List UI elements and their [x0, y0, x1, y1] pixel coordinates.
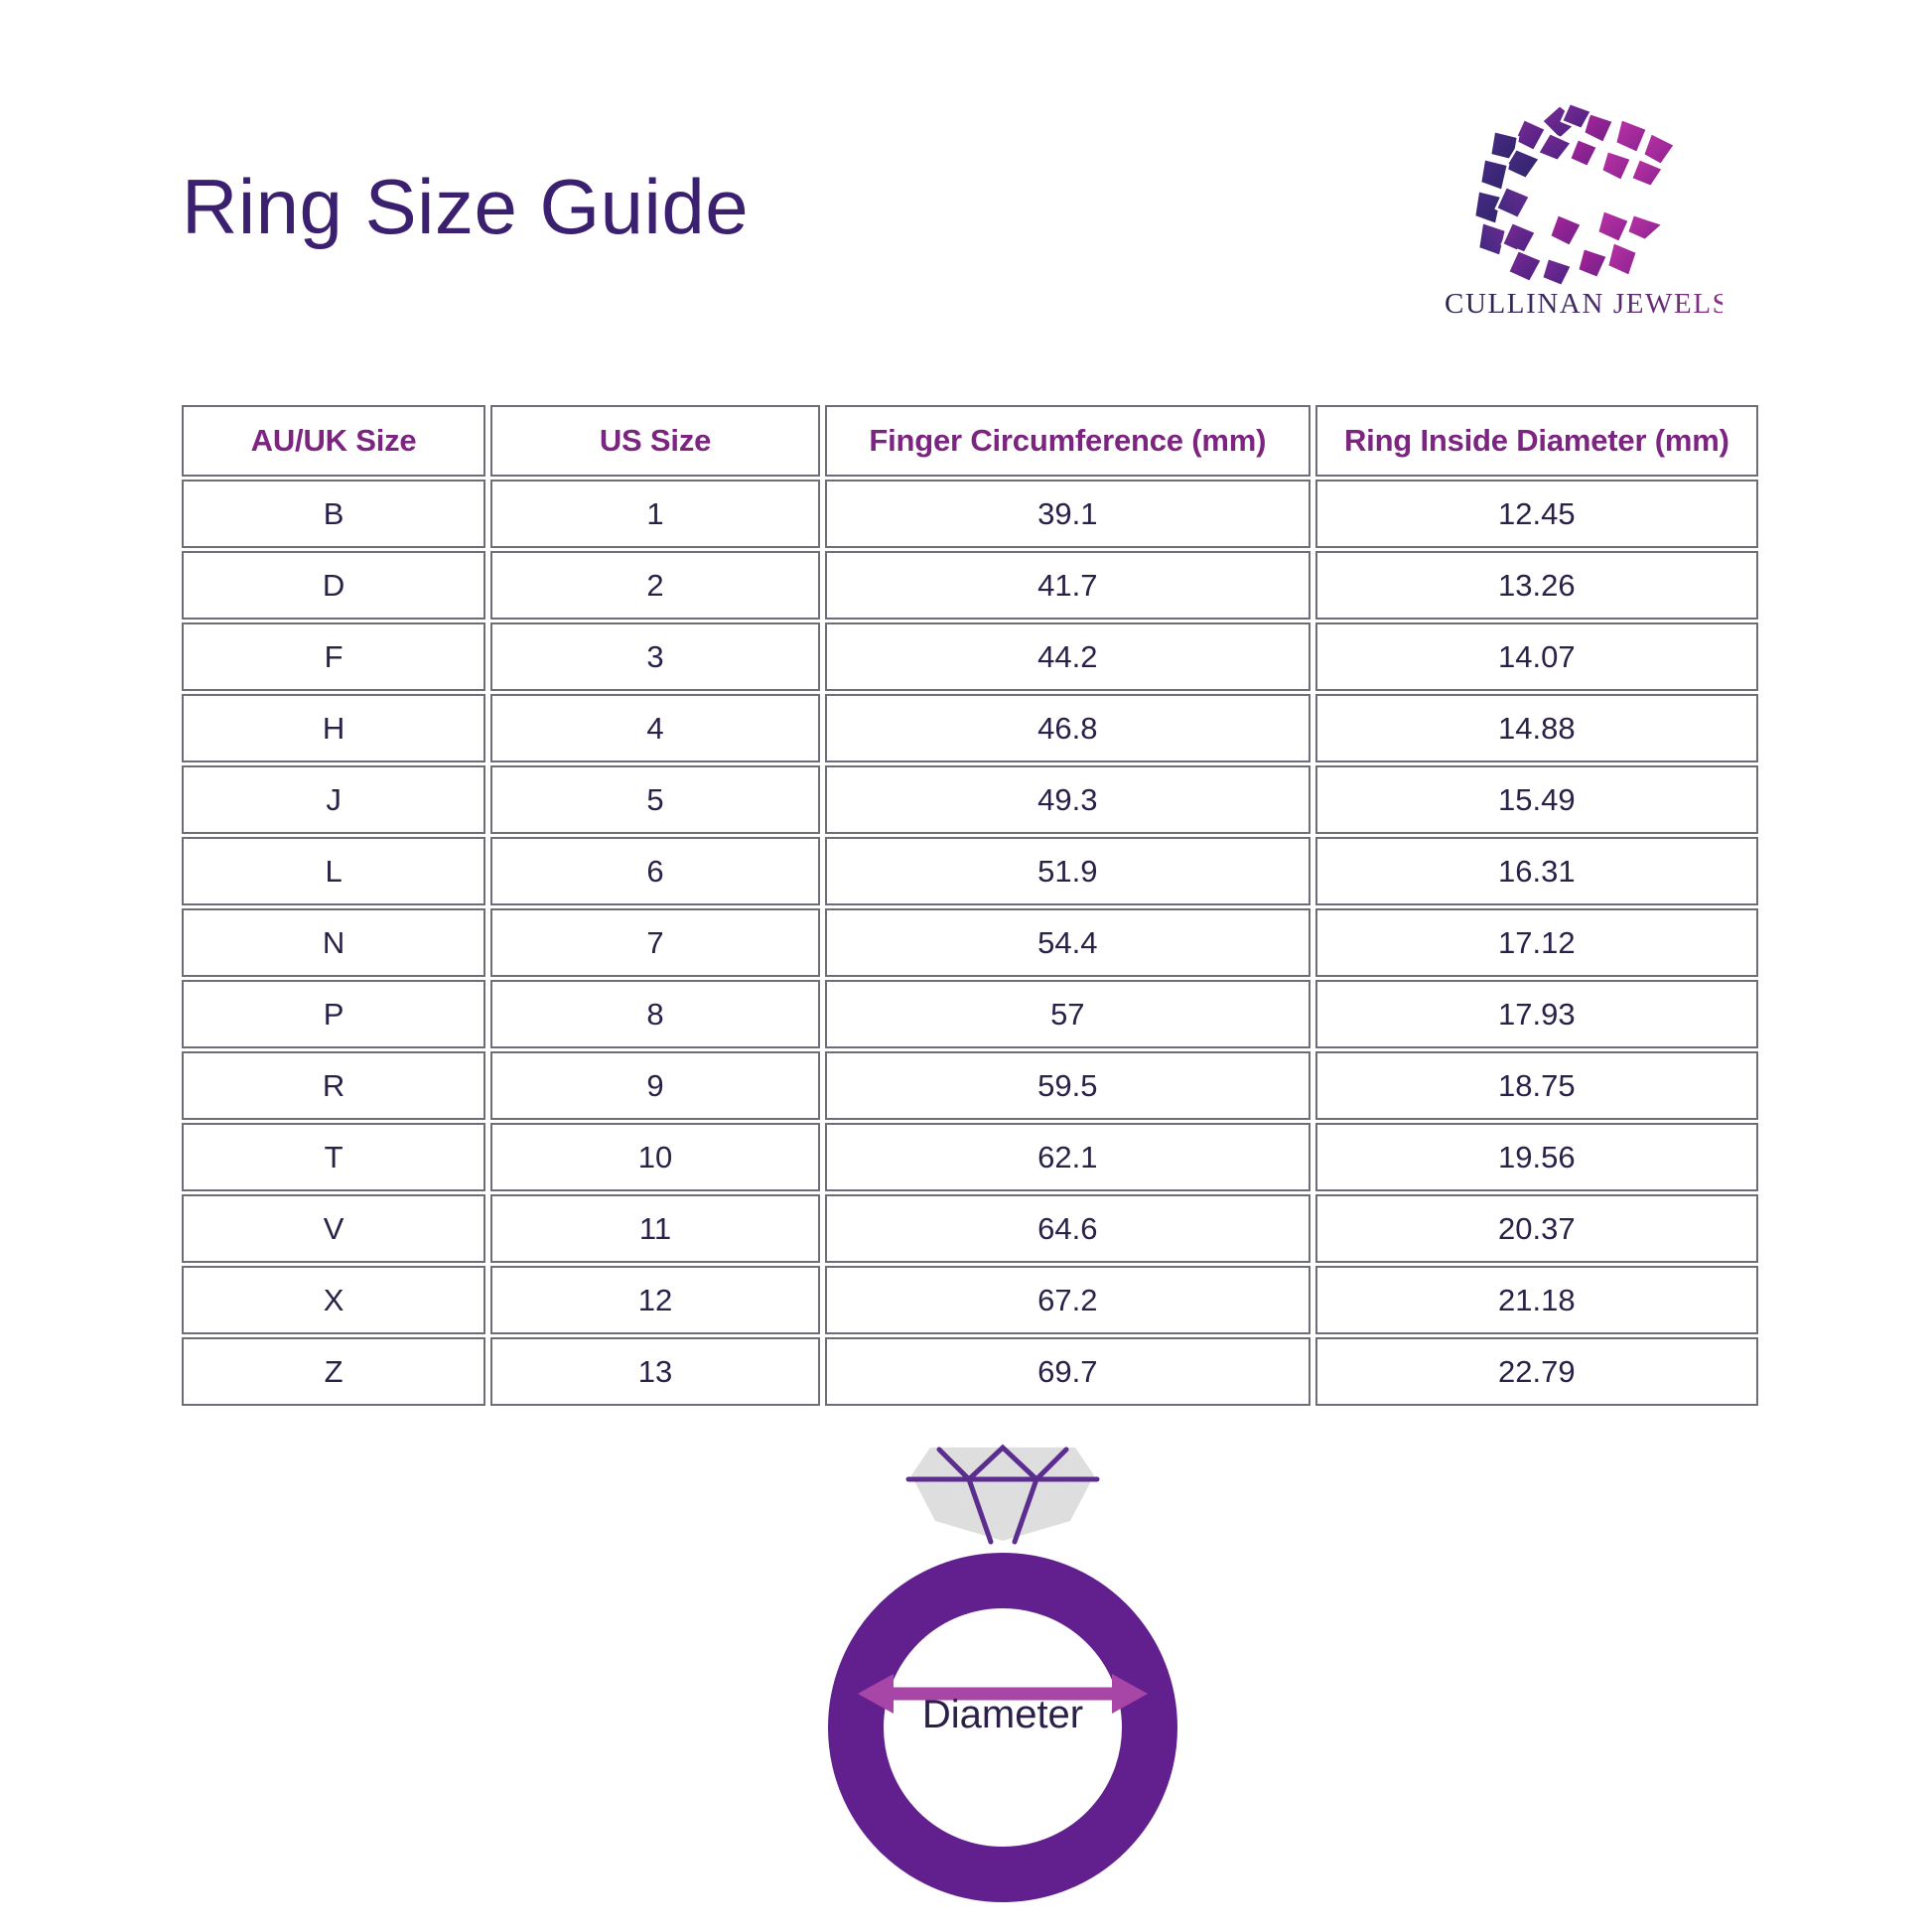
ring-size-table: AU/UK Size US Size Finger Circumference … — [182, 405, 1758, 1409]
cell-au-uk-size: P — [182, 980, 485, 1048]
table-body: B139.112.45D241.713.26F344.214.07H446.81… — [182, 480, 1758, 1406]
cell-ring-inside-diameter: 16.31 — [1315, 837, 1758, 905]
cell-au-uk-size: Z — [182, 1337, 485, 1406]
cell-ring-inside-diameter: 13.26 — [1315, 551, 1758, 620]
table-row: T1062.119.56 — [182, 1123, 1758, 1191]
cell-au-uk-size: H — [182, 694, 485, 762]
cell-ring-inside-diameter: 15.49 — [1315, 765, 1758, 834]
cell-us-size: 9 — [490, 1051, 820, 1120]
table-row: P85717.93 — [182, 980, 1758, 1048]
cell-us-size: 7 — [490, 908, 820, 977]
diamond-gem-icon — [908, 1448, 1097, 1542]
logo-wordmark: CULLINAN JEWELS — [1445, 288, 1723, 321]
cell-us-size: 11 — [490, 1194, 820, 1263]
cell-finger-circumference: 62.1 — [825, 1123, 1311, 1191]
cell-au-uk-size: D — [182, 551, 485, 620]
cell-au-uk-size: B — [182, 480, 485, 548]
table-row: B139.112.45 — [182, 480, 1758, 548]
cell-us-size: 10 — [490, 1123, 820, 1191]
table-row: Z1369.722.79 — [182, 1337, 1758, 1406]
cell-au-uk-size: N — [182, 908, 485, 977]
cell-finger-circumference: 49.3 — [825, 765, 1311, 834]
gem-c-logo-icon — [1472, 99, 1691, 288]
table-row: N754.417.12 — [182, 908, 1758, 977]
cell-ring-inside-diameter: 21.18 — [1315, 1266, 1758, 1334]
table-row: L651.916.31 — [182, 837, 1758, 905]
cell-ring-inside-diameter: 17.12 — [1315, 908, 1758, 977]
cell-ring-inside-diameter: 14.07 — [1315, 622, 1758, 691]
table-row: D241.713.26 — [182, 551, 1758, 620]
table-row: X1267.221.18 — [182, 1266, 1758, 1334]
column-header-us-size: US Size — [490, 405, 820, 477]
table-row: J549.315.49 — [182, 765, 1758, 834]
page-header: Ring Size Guide — [0, 0, 1932, 387]
ring-diameter-diagram: Diameter — [814, 1430, 1191, 1926]
cell-us-size: 3 — [490, 622, 820, 691]
cell-ring-inside-diameter: 17.93 — [1315, 980, 1758, 1048]
table-header-row: AU/UK Size US Size Finger Circumference … — [182, 405, 1758, 477]
cell-finger-circumference: 67.2 — [825, 1266, 1311, 1334]
cell-us-size: 13 — [490, 1337, 820, 1406]
cell-us-size: 5 — [490, 765, 820, 834]
table-row: V1164.620.37 — [182, 1194, 1758, 1263]
column-header-ring-inside-diameter: Ring Inside Diameter (mm) — [1315, 405, 1758, 477]
cell-finger-circumference: 59.5 — [825, 1051, 1311, 1120]
cell-us-size: 1 — [490, 480, 820, 548]
cell-finger-circumference: 57 — [825, 980, 1311, 1048]
diameter-label: Diameter — [922, 1693, 1083, 1736]
cell-au-uk-size: F — [182, 622, 485, 691]
cell-finger-circumference: 69.7 — [825, 1337, 1311, 1406]
table-row: R959.518.75 — [182, 1051, 1758, 1120]
cell-us-size: 2 — [490, 551, 820, 620]
cell-us-size: 4 — [490, 694, 820, 762]
cell-au-uk-size: V — [182, 1194, 485, 1263]
column-header-finger-circumference: Finger Circumference (mm) — [825, 405, 1311, 477]
cell-finger-circumference: 44.2 — [825, 622, 1311, 691]
column-header-au-uk-size: AU/UK Size — [182, 405, 485, 477]
cell-finger-circumference: 64.6 — [825, 1194, 1311, 1263]
cell-au-uk-size: R — [182, 1051, 485, 1120]
cell-ring-inside-diameter: 12.45 — [1315, 480, 1758, 548]
table-row: F344.214.07 — [182, 622, 1758, 691]
cell-au-uk-size: X — [182, 1266, 485, 1334]
page-title: Ring Size Guide — [182, 162, 749, 252]
cell-us-size: 6 — [490, 837, 820, 905]
cell-ring-inside-diameter: 18.75 — [1315, 1051, 1758, 1120]
cell-finger-circumference: 51.9 — [825, 837, 1311, 905]
cell-finger-circumference: 39.1 — [825, 480, 1311, 548]
cell-us-size: 8 — [490, 980, 820, 1048]
cell-finger-circumference: 54.4 — [825, 908, 1311, 977]
cell-ring-inside-diameter: 19.56 — [1315, 1123, 1758, 1191]
cell-finger-circumference: 46.8 — [825, 694, 1311, 762]
cell-ring-inside-diameter: 14.88 — [1315, 694, 1758, 762]
cell-au-uk-size: T — [182, 1123, 485, 1191]
cell-au-uk-size: L — [182, 837, 485, 905]
cell-ring-inside-diameter: 22.79 — [1315, 1337, 1758, 1406]
cell-ring-inside-diameter: 20.37 — [1315, 1194, 1758, 1263]
cell-us-size: 12 — [490, 1266, 820, 1334]
cell-au-uk-size: J — [182, 765, 485, 834]
brand-logo: CULLINAN JEWELS — [1445, 99, 1723, 333]
cell-finger-circumference: 41.7 — [825, 551, 1311, 620]
table-row: H446.814.88 — [182, 694, 1758, 762]
